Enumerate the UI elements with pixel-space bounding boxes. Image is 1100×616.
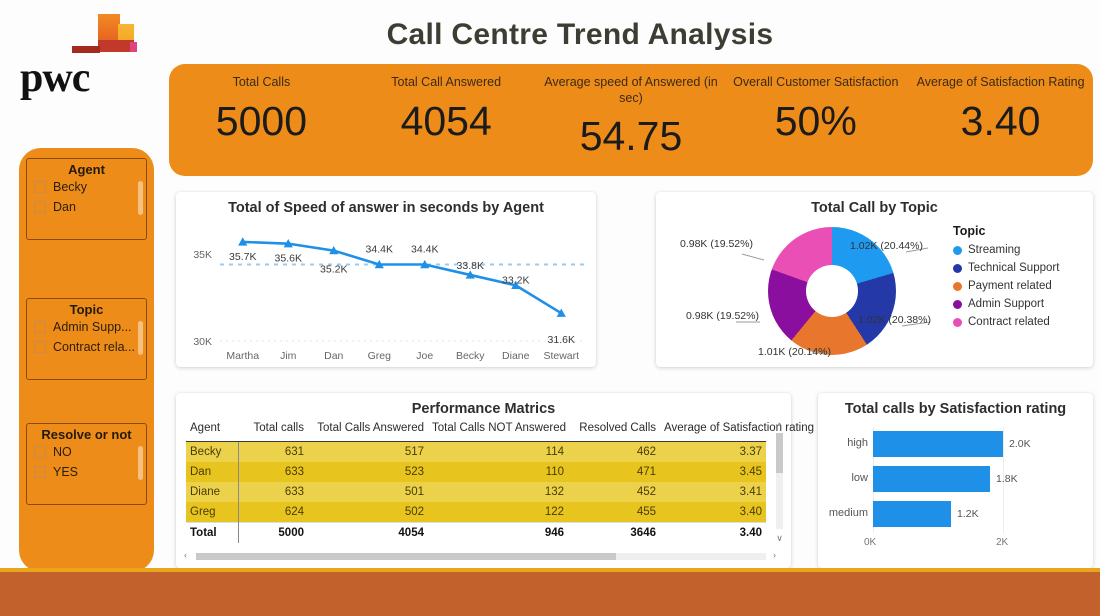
cell-total-calls: 633	[238, 462, 308, 482]
svg-text:Dan: Dan	[324, 350, 343, 362]
cell-answered: 501	[308, 482, 428, 502]
column-header-resolved-calls[interactable]: Resolved Calls	[568, 419, 660, 442]
line-chart-plot: 35K30K35.7K35.6K35.2K34.4K34.4K33.8K33.2…	[176, 218, 596, 367]
kpi-value: 54.75	[580, 113, 683, 160]
kpi-overall-customer-satisfaction: Overall Customer Satisfaction 50%	[723, 64, 908, 176]
checkbox-icon[interactable]	[34, 201, 46, 213]
legend-item-streaming[interactable]: Streaming	[953, 244, 1081, 256]
svg-text:Diane: Diane	[502, 350, 530, 362]
legend-label: Payment related	[968, 280, 1052, 292]
cell-resolved: 462	[568, 442, 660, 463]
performance-table-card[interactable]: Performance Matrics Agent Total calls To…	[176, 393, 791, 568]
bar-chart-plot: high 2.0K low 1.8K medium 1.2K 0K 2K	[818, 421, 1093, 568]
legend-item-technical-support[interactable]: Technical Support	[953, 262, 1081, 274]
slicer-scrollbar[interactable]	[138, 181, 143, 215]
cell-avg-rating: 3.41	[660, 482, 766, 502]
svg-text:Greg: Greg	[368, 350, 392, 362]
checkbox-icon[interactable]	[34, 321, 46, 333]
cell-total-calls: 631	[238, 442, 308, 463]
donut-legend: Topic Streaming Technical Support Paymen…	[953, 224, 1081, 334]
legend-swatch-icon	[953, 318, 962, 327]
cell-total-calls: 5000	[238, 523, 308, 544]
kpi-label: Average speed of Answered (in sec)	[539, 75, 724, 106]
legend-swatch-icon	[953, 246, 962, 255]
scroll-right-icon[interactable]: ›	[773, 550, 776, 560]
kpi-label: Overall Customer Satisfaction	[733, 75, 898, 91]
slicer-item-becky[interactable]: Becky	[27, 177, 146, 197]
cell-answered: 4054	[308, 523, 428, 544]
table-horizontal-scrollbar[interactable]: ‹ ›	[184, 551, 778, 562]
donut-label-technical-support: 1.02K (20.38%)	[858, 314, 931, 326]
line-chart-card[interactable]: Total of Speed of answer in seconds by A…	[176, 192, 596, 367]
cell-resolved: 471	[568, 462, 660, 482]
bar-category-medium: medium	[818, 507, 868, 519]
kpi-label: Total Calls	[233, 75, 291, 91]
slicer-item-dan[interactable]: Dan	[27, 197, 146, 217]
column-header-agent[interactable]: Agent	[186, 419, 238, 442]
slicer-scrollbar[interactable]	[138, 446, 143, 480]
scroll-up-icon[interactable]: ^	[774, 421, 785, 431]
table-row[interactable]: Becky 631 517 114 462 3.37	[186, 442, 766, 463]
slicer-item-yes[interactable]: YES	[27, 462, 146, 482]
cell-avg-rating: 3.45	[660, 462, 766, 482]
cell-avg-rating: 3.37	[660, 442, 766, 463]
bar-chart-title: Total calls by Satisfaction rating	[818, 393, 1093, 417]
svg-text:Joe: Joe	[416, 350, 433, 362]
dashboard-page: pwc Call Centre Trend Analysis Total Cal…	[0, 0, 1100, 616]
cell-answered: 517	[308, 442, 428, 463]
cell-avg-rating: 3.40	[660, 523, 766, 544]
slicer-item-admin-support[interactable]: Admin Supp...	[27, 317, 146, 337]
kpi-average-speed-of-answered: Average speed of Answered (in sec) 54.75	[539, 64, 724, 176]
bar-category-high: high	[818, 437, 868, 449]
checkbox-icon[interactable]	[34, 446, 46, 458]
cell-not-answered: 946	[428, 523, 568, 544]
cell-agent: Dan	[186, 462, 238, 482]
bar-high[interactable]	[873, 431, 1003, 457]
legend-item-payment-related[interactable]: Payment related	[953, 280, 1081, 292]
svg-text:35K: 35K	[193, 249, 212, 261]
cell-agent: Total	[186, 523, 238, 544]
slicer-resolve-or-not[interactable]: Resolve or not NO YES	[26, 423, 147, 505]
slicer-item-label: NO	[53, 445, 72, 459]
donut-label-contract-related: 0.98K (19.52%)	[680, 238, 753, 250]
pwc-logo: pwc	[20, 8, 170, 100]
slicer-agent[interactable]: Agent Becky Dan	[26, 158, 147, 240]
bar-chart-card[interactable]: Total calls by Satisfaction rating high …	[818, 393, 1093, 568]
svg-text:30K: 30K	[193, 336, 212, 348]
svg-text:Becky: Becky	[456, 350, 485, 362]
column-header-average-satisfaction-rating[interactable]: Average of Satisfaction rating	[660, 419, 766, 442]
checkbox-icon[interactable]	[34, 466, 46, 478]
legend-label: Streaming	[968, 244, 1020, 256]
kpi-average-satisfaction-rating: Average of Satisfaction Rating 3.40	[908, 64, 1093, 176]
kpi-value: 4054	[401, 98, 492, 145]
pwc-logo-mark-icon	[68, 10, 148, 58]
footer-strip	[0, 572, 1100, 616]
cell-answered: 523	[308, 462, 428, 482]
bar-category-low: low	[818, 472, 868, 484]
kpi-value: 50%	[775, 98, 857, 145]
legend-label: Contract related	[968, 316, 1050, 328]
svg-text:35.2K: 35.2K	[320, 264, 347, 276]
slicer-item-label: Contract rela...	[53, 340, 135, 354]
column-header-total-calls-answered[interactable]: Total Calls Answered	[308, 419, 428, 442]
vscroll-thumb[interactable]	[776, 433, 783, 473]
cell-agent: Diane	[186, 482, 238, 502]
legend-swatch-icon	[953, 282, 962, 291]
donut-chart-card[interactable]: Total Call by Topic 1.02K (20.44%) 1.02K…	[656, 192, 1093, 367]
table-header-row: Agent Total calls Total Calls Answered T…	[186, 419, 766, 442]
svg-text:35.6K: 35.6K	[275, 253, 302, 265]
kpi-label: Average of Satisfaction Rating	[917, 75, 1085, 91]
svg-text:33.8K: 33.8K	[457, 260, 484, 272]
performance-table: Agent Total calls Total Calls Answered T…	[186, 419, 766, 543]
slicer-topic[interactable]: Topic Admin Supp... Contract rela...	[26, 298, 147, 380]
legend-swatch-icon	[953, 264, 962, 273]
cell-resolved: 455	[568, 502, 660, 523]
checkbox-icon[interactable]	[34, 181, 46, 193]
cell-resolved: 452	[568, 482, 660, 502]
hscroll-thumb[interactable]	[196, 553, 616, 560]
bar-value-medium: 1.2K	[957, 508, 979, 520]
bar-axis-tick-2k: 2K	[996, 537, 1008, 548]
cell-total-calls: 624	[238, 502, 308, 523]
kpi-total-call-answered: Total Call Answered 4054	[354, 64, 539, 176]
svg-text:33.2K: 33.2K	[502, 274, 529, 286]
scroll-left-icon[interactable]: ‹	[184, 550, 187, 560]
slicer-title: Topic	[27, 299, 146, 317]
svg-text:Martha: Martha	[226, 350, 259, 362]
donut-hole	[806, 265, 858, 317]
svg-text:34.4K: 34.4K	[366, 244, 393, 256]
bar-value-low: 1.8K	[996, 473, 1018, 485]
pwc-logo-text: pwc	[20, 54, 89, 102]
legend-swatch-icon	[953, 300, 962, 309]
donut-label-admin-support: 0.98K (19.52%)	[686, 310, 759, 322]
svg-text:Jim: Jim	[280, 350, 297, 362]
svg-text:Stewart: Stewart	[543, 350, 579, 362]
kpi-value: 5000	[216, 98, 307, 145]
kpi-value: 3.40	[961, 98, 1041, 145]
cell-agent: Becky	[186, 442, 238, 463]
slicer-item-label: YES	[53, 465, 78, 479]
checkbox-icon[interactable]	[34, 341, 46, 353]
bar-axis-tick-0k: 0K	[864, 537, 876, 548]
slicer-title: Resolve or not	[27, 424, 146, 442]
page-title: Call Centre Trend Analysis	[300, 18, 860, 52]
donut-label-payment-related: 1.01K (20.14%)	[758, 346, 831, 358]
slicer-item-label: Admin Supp...	[53, 320, 132, 334]
donut-chart-title: Total Call by Topic	[656, 192, 1093, 216]
performance-table-title: Performance Matrics	[176, 393, 791, 417]
svg-text:35.7K: 35.7K	[229, 251, 256, 263]
column-header-total-calls-not-answered[interactable]: Total Calls NOT Answered	[428, 419, 568, 442]
line-chart-svg: 35K30K35.7K35.6K35.2K34.4K34.4K33.8K33.2…	[176, 218, 596, 367]
table-row[interactable]: Diane 633 501 132 452 3.41	[186, 482, 766, 502]
legend-item-contract-related[interactable]: Contract related	[953, 316, 1081, 328]
cell-resolved: 3646	[568, 523, 660, 544]
cell-not-answered: 114	[428, 442, 568, 463]
legend-label: Technical Support	[968, 262, 1059, 274]
svg-text:34.4K: 34.4K	[411, 244, 438, 256]
slicer-item-label: Becky	[53, 180, 87, 194]
kpi-banner: Total Calls 5000 Total Call Answered 405…	[169, 64, 1093, 176]
legend-title: Topic	[953, 224, 1081, 238]
table-row[interactable]: Dan 633 523 110 471 3.45	[186, 462, 766, 482]
cell-avg-rating: 3.40	[660, 502, 766, 523]
column-header-total-calls[interactable]: Total calls	[238, 419, 308, 442]
slicer-item-label: Dan	[53, 200, 76, 214]
svg-text:31.6K: 31.6K	[548, 334, 575, 346]
cell-total-calls: 633	[238, 482, 308, 502]
donut-label-streaming: 1.02K (20.44%)	[850, 240, 923, 252]
slicer-title: Agent	[27, 159, 146, 177]
slicer-rail: Agent Becky Dan Topic Admin Supp... Cont…	[19, 148, 154, 572]
table-vertical-scrollbar[interactable]: ^ ∨	[774, 421, 785, 541]
slicer-item-no[interactable]: NO	[27, 442, 146, 462]
cell-not-answered: 122	[428, 502, 568, 523]
table-row[interactable]: Greg 624 502 122 455 3.40	[186, 502, 766, 523]
scroll-down-icon[interactable]: ∨	[774, 533, 785, 543]
cell-not-answered: 132	[428, 482, 568, 502]
bar-value-high: 2.0K	[1009, 438, 1031, 450]
bar-low[interactable]	[873, 466, 990, 492]
cell-not-answered: 110	[428, 462, 568, 482]
cell-answered: 502	[308, 502, 428, 523]
donut-chart-plot: 1.02K (20.44%) 1.02K (20.38%) 1.01K (20.…	[680, 222, 980, 362]
legend-label: Admin Support	[968, 298, 1044, 310]
line-chart-title: Total of Speed of answer in seconds by A…	[176, 192, 596, 216]
bar-medium[interactable]	[873, 501, 951, 527]
cell-agent: Greg	[186, 502, 238, 523]
legend-item-admin-support[interactable]: Admin Support	[953, 298, 1081, 310]
slicer-item-contract-related[interactable]: Contract rela...	[27, 337, 146, 357]
slicer-scrollbar[interactable]	[138, 321, 143, 355]
table-total-row: Total 5000 4054 946 3646 3.40	[186, 523, 766, 544]
kpi-label: Total Call Answered	[391, 75, 501, 91]
kpi-total-calls: Total Calls 5000	[169, 64, 354, 176]
